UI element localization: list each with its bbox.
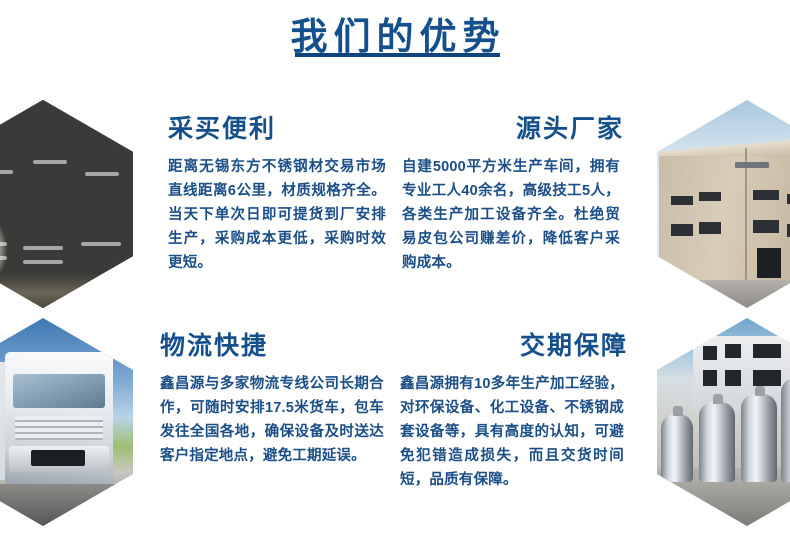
factory-window bbox=[671, 224, 693, 236]
factory-window bbox=[671, 196, 693, 205]
advantage-block-logistics: 物流快捷 鑫昌源与多家物流专线公司长期合作，可随时安排17.5米货车，包车发往全… bbox=[160, 330, 388, 468]
building-window bbox=[725, 344, 741, 358]
advantage-body-text: 距离无锡东方不锈钢材交易市场直线距离6公里，材质规格齐全。当天下单次日即可提货到… bbox=[168, 155, 386, 275]
tank-nozzle bbox=[673, 406, 683, 416]
coil-band bbox=[33, 160, 67, 164]
factory-ground bbox=[657, 280, 790, 308]
factory-entrance bbox=[757, 248, 781, 278]
coil-band bbox=[23, 246, 63, 250]
factory-window bbox=[753, 220, 779, 233]
building-window bbox=[725, 370, 741, 386]
stainless-tank bbox=[661, 414, 693, 482]
tank-nozzle bbox=[713, 394, 723, 404]
truck-grille bbox=[15, 416, 103, 440]
factory-corner-edge bbox=[745, 148, 747, 288]
building-window bbox=[753, 370, 781, 386]
advantage-heading: 源头厂家 bbox=[402, 113, 624, 145]
coil-band bbox=[0, 170, 13, 174]
tank-nozzle bbox=[755, 386, 765, 396]
advantage-body-text: 鑫昌源与多家物流专线公司长期合作，可随时安排17.5米货车，包车发往全国各地，确… bbox=[160, 372, 384, 468]
tanks-image-content bbox=[657, 318, 790, 526]
factory-window bbox=[753, 190, 779, 200]
stainless-tank bbox=[699, 402, 735, 482]
coil-band bbox=[81, 242, 121, 246]
advantage-body-text: 自建5000平方米生产车间，拥有专业工人40余名，高级技工5人，各类生产加工设备… bbox=[402, 155, 620, 275]
coil-band bbox=[0, 256, 7, 260]
steel-coils-photo bbox=[0, 100, 133, 308]
coil-band bbox=[85, 172, 119, 176]
building-window bbox=[753, 344, 781, 358]
advantage-block-purchasing: 采买便利 距离无锡东方不锈钢材交易市场直线距离6公里，材质规格齐全。当天下单次日… bbox=[168, 113, 390, 275]
building-window bbox=[703, 370, 717, 386]
steel-coils-image-content bbox=[0, 100, 133, 308]
coil-band bbox=[23, 260, 63, 264]
title-underline-bar bbox=[295, 53, 500, 57]
coil-band bbox=[0, 242, 7, 246]
advantage-heading: 交期保障 bbox=[400, 330, 628, 362]
advantage-block-manufacturer: 源头厂家 自建5000平方米生产车间，拥有专业工人40余名，高级技工5人，各类生… bbox=[402, 113, 624, 275]
factory-building-photo bbox=[657, 100, 790, 308]
advantage-heading: 物流快捷 bbox=[160, 330, 388, 362]
road-surface bbox=[0, 484, 133, 526]
advantage-body-text: 鑫昌源拥有10多年生产加工经验，对环保设备、化工设备、不锈钢成套设备等，具有高度… bbox=[400, 372, 624, 492]
stainless-tank bbox=[781, 378, 790, 482]
advantage-heading: 采买便利 bbox=[168, 113, 390, 145]
factory-window bbox=[699, 192, 721, 201]
factory-image-content bbox=[657, 100, 790, 308]
building-window bbox=[703, 346, 717, 360]
advantages-page: 我们的优势 bbox=[0, 0, 790, 548]
truck-image-content bbox=[0, 318, 133, 526]
advantage-block-delivery: 交期保障 鑫昌源拥有10多年生产加工经验，对环保设备、化工设备、不锈钢成套设备等… bbox=[400, 330, 628, 492]
factory-sign bbox=[735, 162, 769, 168]
truck-windshield bbox=[13, 374, 105, 408]
delivery-truck-photo bbox=[0, 318, 133, 526]
stainless-tank bbox=[741, 394, 777, 482]
truck-air-intake bbox=[31, 450, 85, 466]
factory-window bbox=[699, 222, 721, 234]
stainless-tanks-photo bbox=[657, 318, 790, 526]
